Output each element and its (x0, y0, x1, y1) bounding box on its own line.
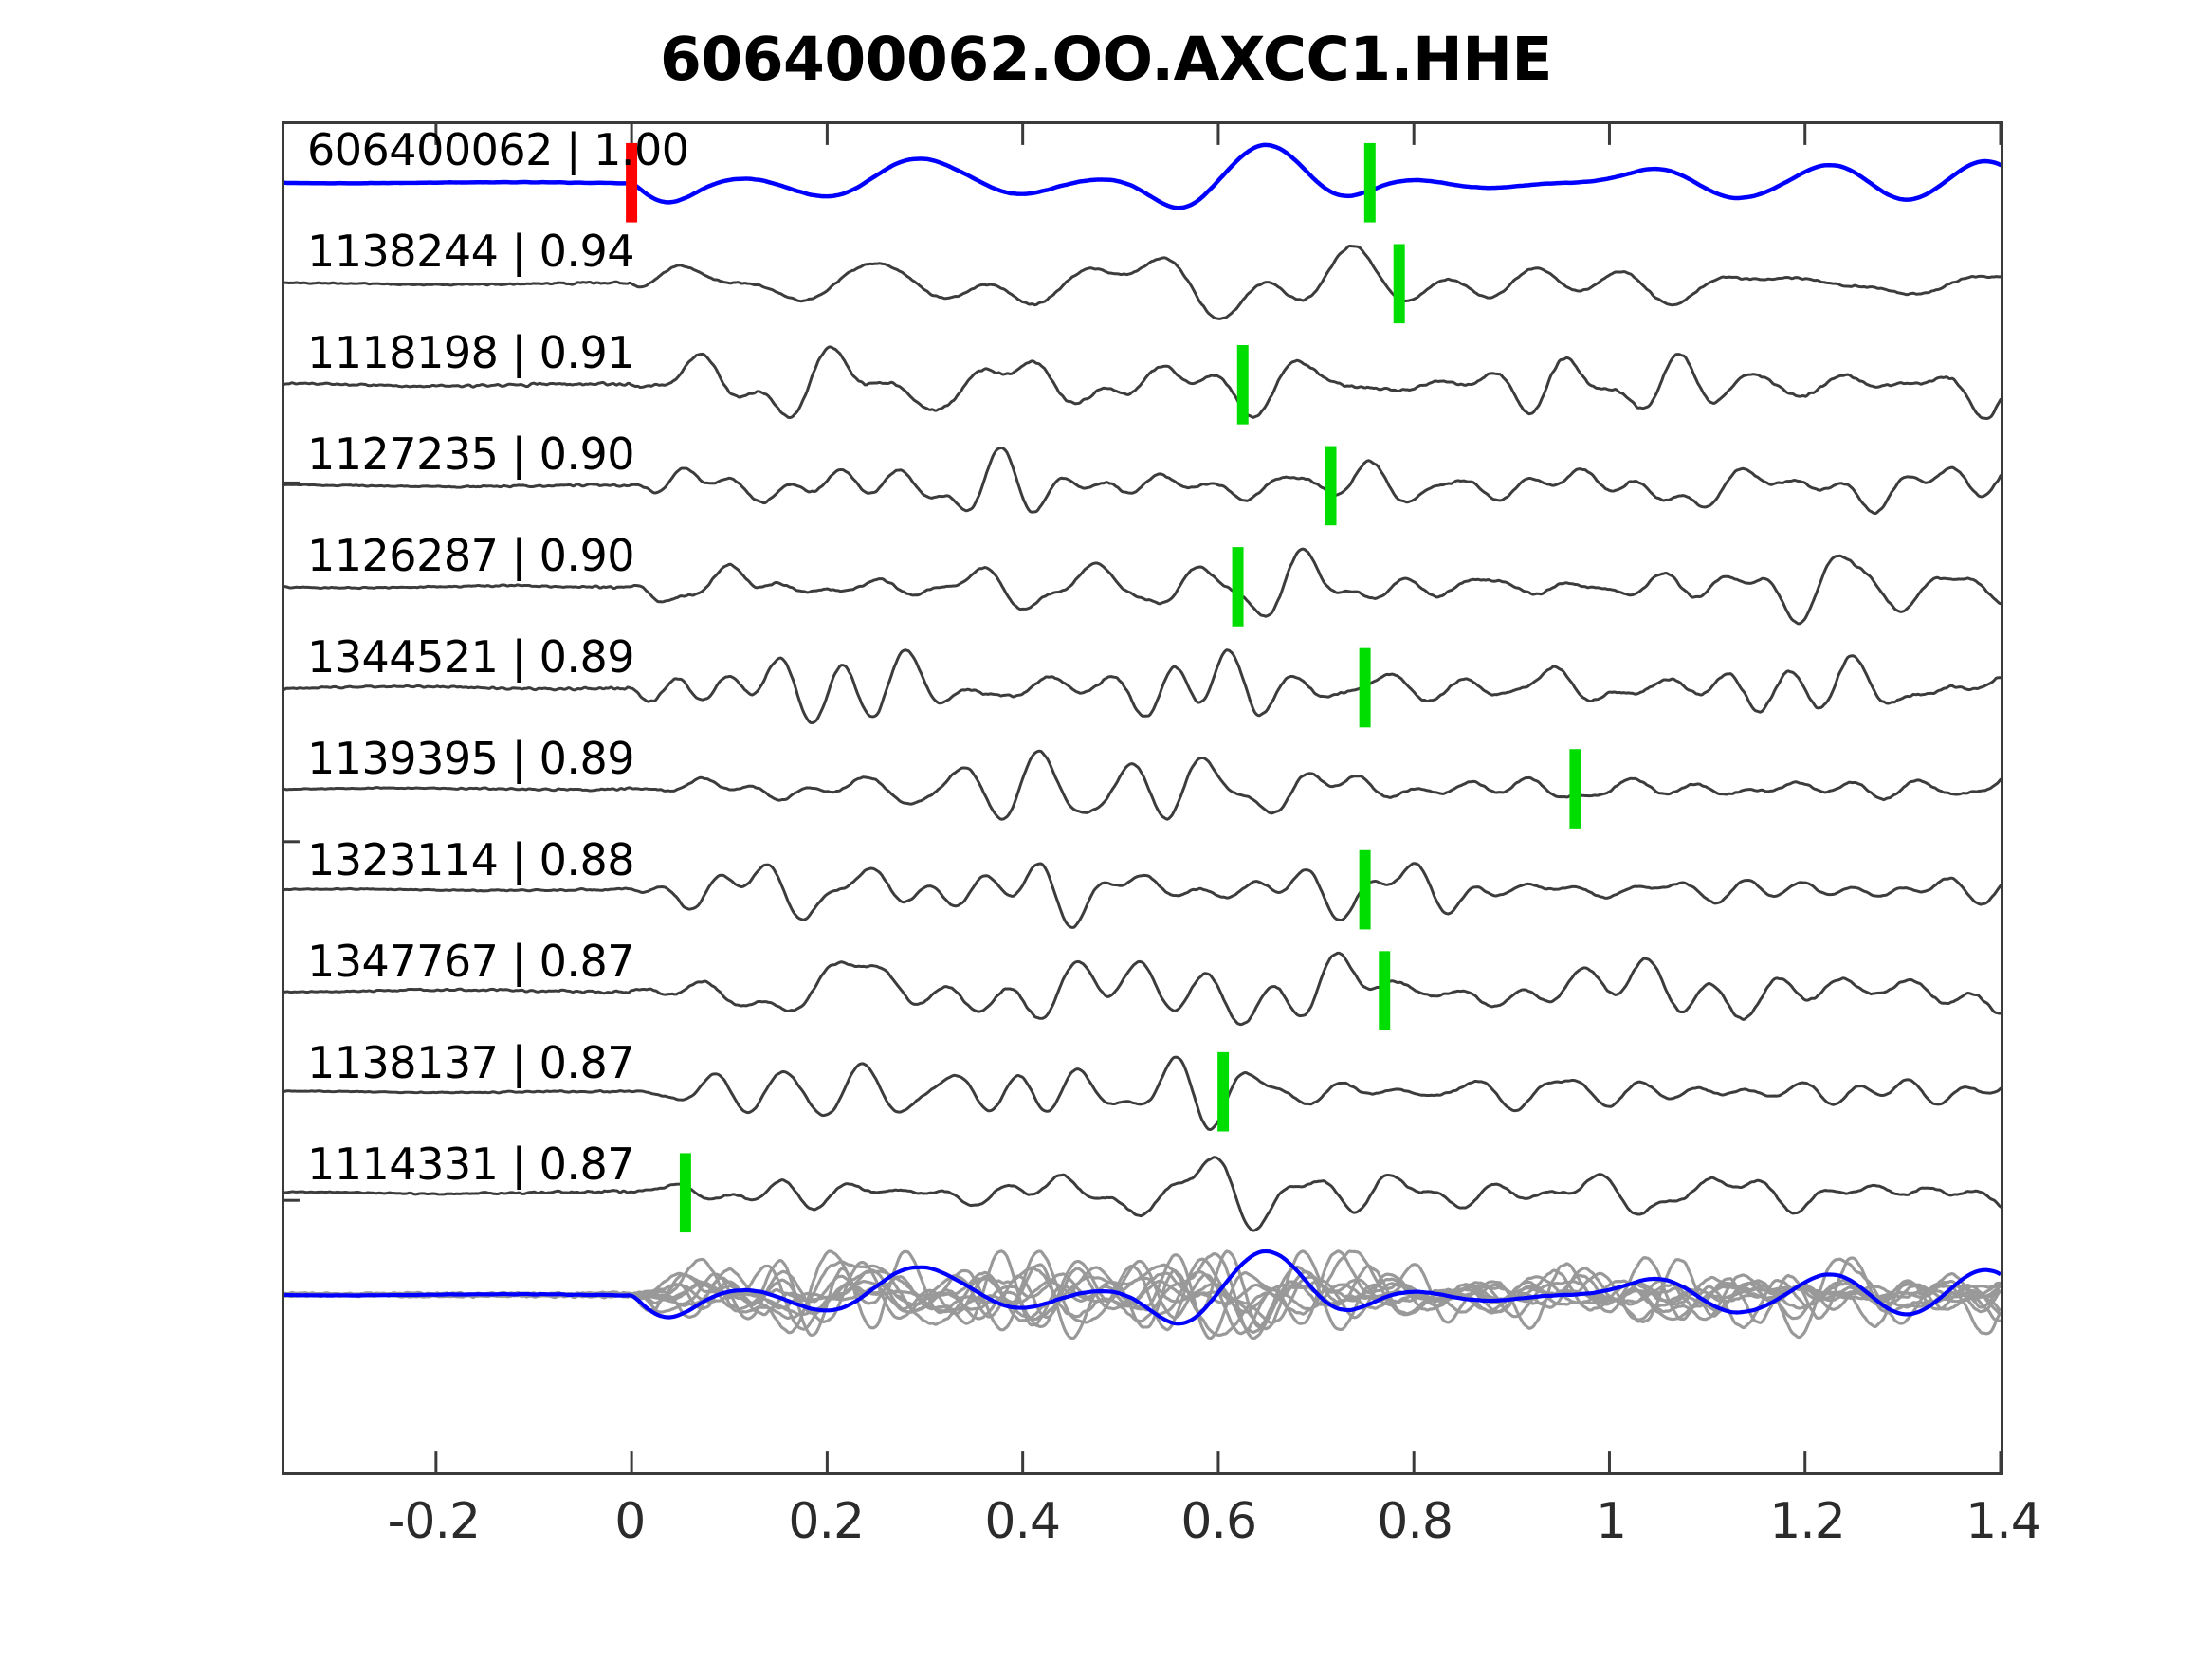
x-tick-label: 1 (1596, 1493, 1626, 1550)
detection-pick-marker (1233, 547, 1244, 627)
page-title: 606400062.OO.AXCC1.HHE (0, 25, 2212, 94)
detection-pick-marker (1217, 1052, 1229, 1132)
x-tick-label: 1.2 (1769, 1493, 1845, 1550)
detection-pick-marker (1569, 749, 1581, 829)
trace-label-1118198: 1118198 | 0.91 (307, 327, 634, 378)
x-axis-tick-labels: -0.200.20.40.60.811.21.4 (0, 1493, 2212, 1578)
x-tick-label: 0 (614, 1493, 645, 1550)
x-tick-label: 0.4 (984, 1493, 1060, 1550)
detection-pick-marker (680, 1153, 691, 1232)
overlay-stack (284, 1251, 2001, 1339)
trace-label-1138137: 1138137 | 0.87 (307, 1037, 634, 1088)
trace-label-1323114: 1323114 | 0.88 (307, 834, 634, 885)
trace-label-606400062: 606400062 | 1.00 (307, 124, 689, 175)
x-tick-label: 0.6 (1180, 1493, 1256, 1550)
trace-label-1127235: 1127235 | 0.90 (307, 428, 634, 480)
detection-pick-marker (1360, 850, 1371, 930)
detection-pick-marker (1379, 951, 1390, 1030)
trace-label-1114331: 1114331 | 0.87 (307, 1139, 634, 1190)
trace-label-1126287: 1126287 | 0.90 (307, 530, 634, 581)
trace-label-1347767: 1347767 | 0.87 (307, 936, 634, 987)
detection-pick-marker (1364, 143, 1376, 223)
detection-pick-marker (1360, 648, 1371, 728)
x-tick-label: 0.2 (788, 1493, 864, 1550)
x-tick-label: -0.2 (388, 1493, 480, 1550)
plot-area: 606400062 | 1.001138244 | 0.941118198 | … (282, 121, 2003, 1475)
figure-root: 606400062.OO.AXCC1.HHE 606400062 | 1.001… (0, 0, 2212, 1659)
x-tick-label: 1.4 (1965, 1493, 2041, 1550)
trace-label-1344521: 1344521 | 0.89 (307, 631, 634, 683)
detection-pick-marker (1325, 447, 1337, 526)
x-tick-label: 0.8 (1377, 1493, 1453, 1550)
detection-pick-marker (1394, 244, 1405, 323)
trace-label-1138244: 1138244 | 0.94 (307, 226, 634, 277)
trace-label-1139395: 1139395 | 0.89 (307, 733, 634, 784)
detection-pick-marker (1237, 345, 1249, 425)
